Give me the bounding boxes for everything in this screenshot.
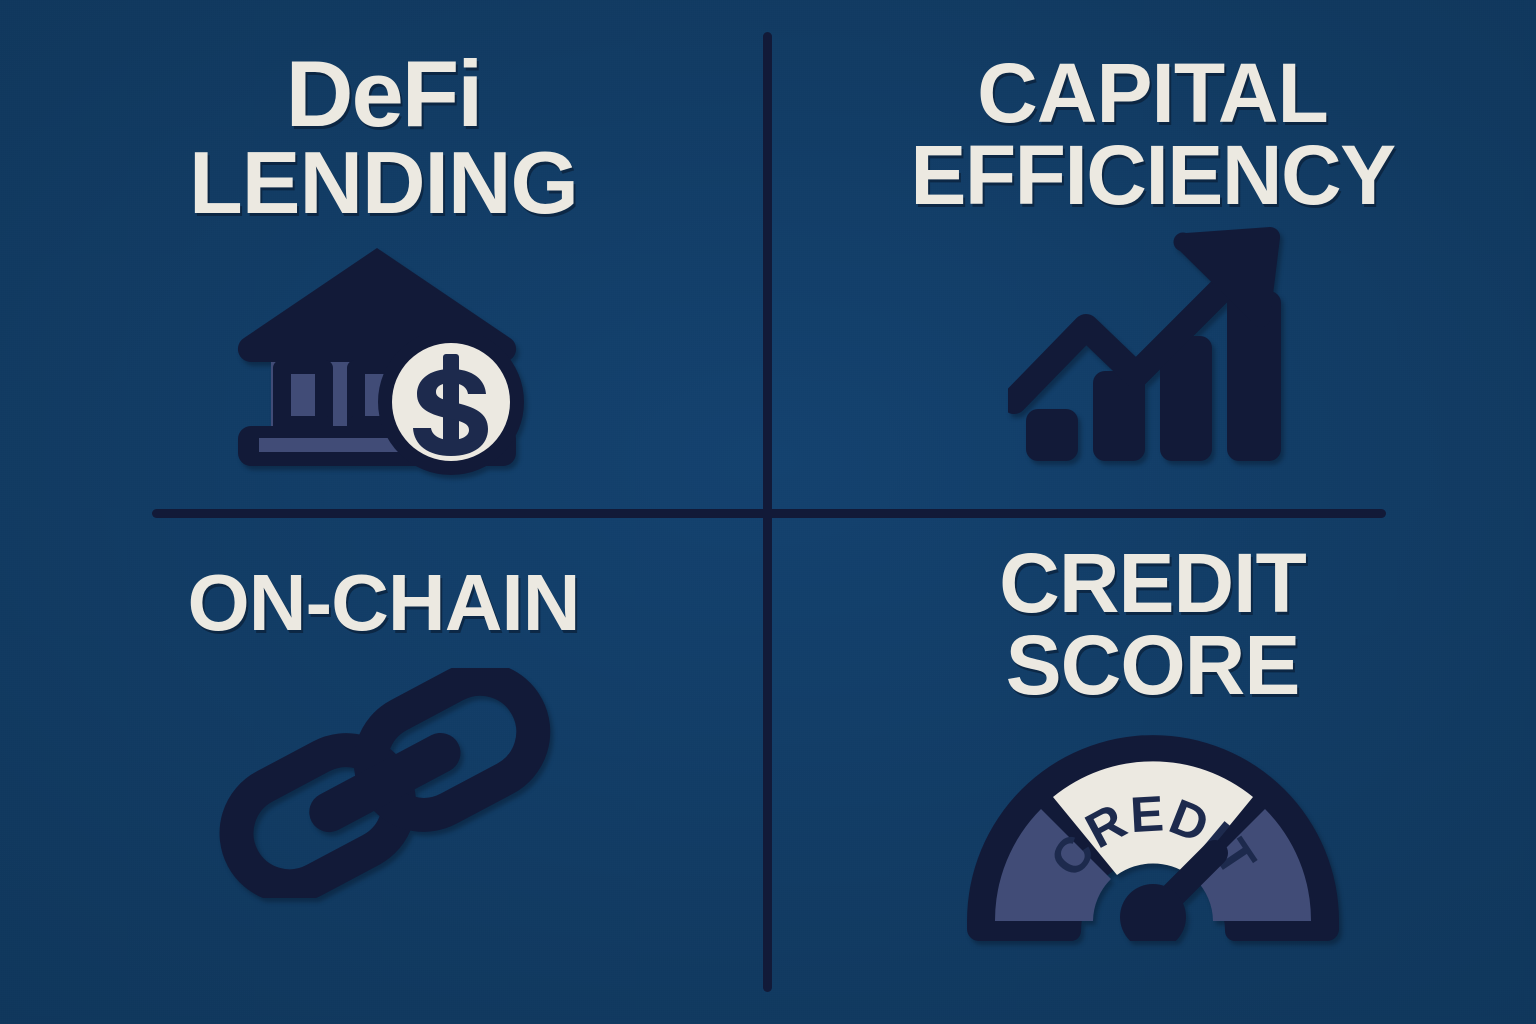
bank-dollar-icon-wrap (229, 232, 539, 477)
quadrant-defi-lending[interactable]: DeFi LENDING (0, 0, 767, 512)
growth-chart-arrow-icon (1008, 223, 1298, 463)
growth-chart-arrow-icon-wrap (1008, 223, 1298, 463)
chain-link-icon-wrap (184, 668, 584, 898)
quadrant-on-chain[interactable]: ON-CHAIN (0, 512, 767, 1024)
credit-gauge-icon: CREDIT (953, 725, 1353, 941)
capital-efficiency-title-line1: CAPITAL (910, 52, 1394, 134)
chain-link-icon (184, 668, 584, 898)
quadrant-credit-score[interactable]: CREDIT SCORE CREDIT (769, 512, 1536, 1024)
credit-score-title-line2: SCORE (999, 624, 1306, 706)
defi-lending-title-line2: LENDING (189, 140, 578, 226)
on-chain-title-line1: ON-CHAIN (188, 564, 580, 642)
credit-gauge-icon-wrap: CREDIT (953, 725, 1353, 941)
defi-lending-title: DeFi LENDING (189, 48, 578, 226)
credit-score-title: CREDIT SCORE (999, 542, 1306, 707)
capital-efficiency-title-line2: EFFICIENCY (910, 134, 1394, 216)
infographic-canvas: DeFi LENDING (0, 0, 1536, 1024)
quadrant-capital-efficiency[interactable]: CAPITAL EFFICIENCY (769, 0, 1536, 512)
on-chain-title: ON-CHAIN (188, 564, 580, 642)
credit-score-title-line1: CREDIT (999, 542, 1306, 624)
bank-dollar-icon (229, 232, 539, 477)
capital-efficiency-title: CAPITAL EFFICIENCY (910, 52, 1394, 217)
defi-lending-title-line1: DeFi (189, 48, 578, 140)
